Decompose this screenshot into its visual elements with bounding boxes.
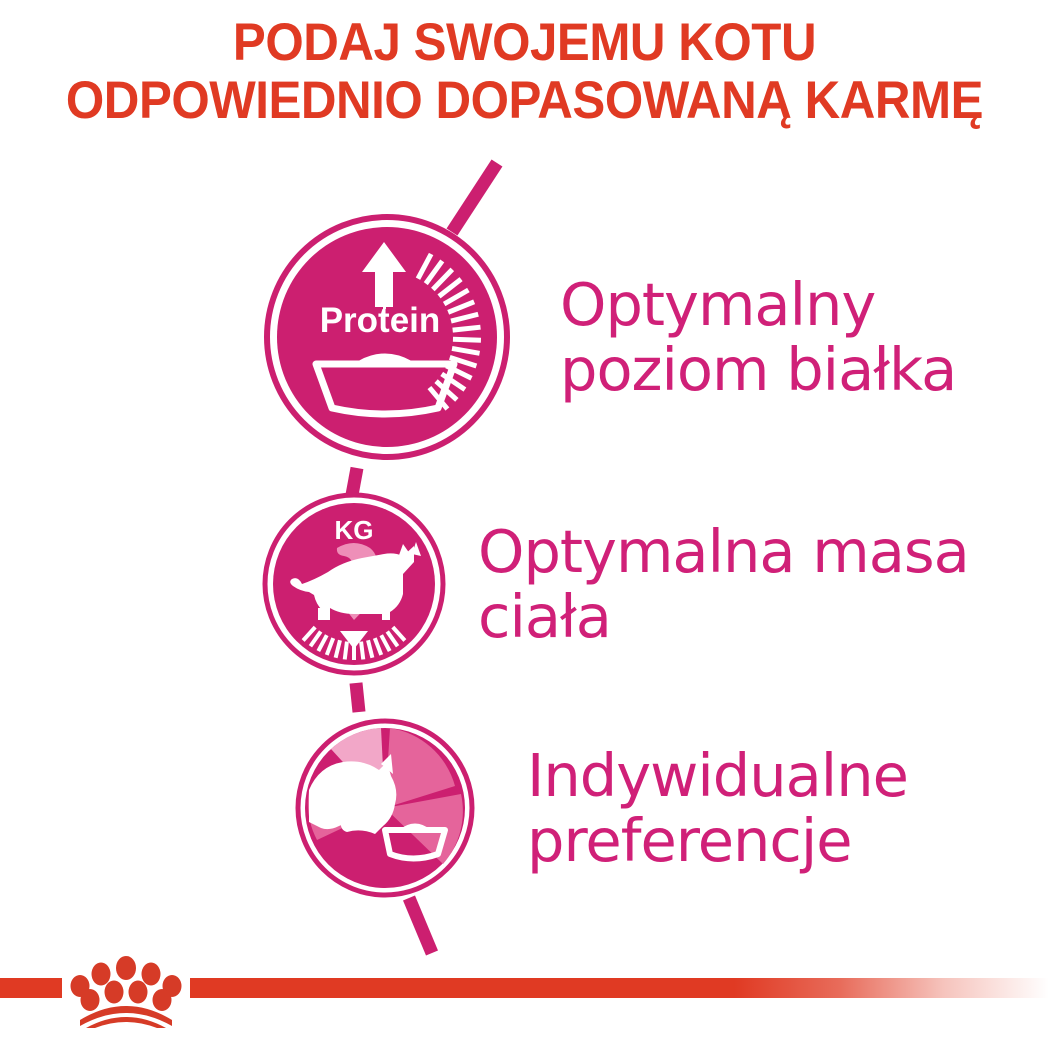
feature-label-protein-line-2: poziom białka: [560, 337, 956, 402]
royal-canin-crown-logo: [60, 946, 192, 1028]
feature-label-protein-line-1: Optymalny: [560, 272, 956, 337]
feature-label-weight-line-1: Optymalna masa: [478, 519, 969, 584]
kg-icon-text: KG: [335, 515, 374, 545]
feature-label-weight: Optymalna masa ciała: [478, 519, 969, 649]
feature-row-weight: KG: [262, 492, 969, 676]
feature-row-preferences: Indywidualne preferencje: [295, 718, 908, 898]
page-title-line-2: ODPOWIEDNIO DOPASOWANĄ KARMĘ: [37, 72, 1013, 130]
cat-eating-bowl-icon: [295, 718, 475, 898]
protein-gauge-icon: Protein: [262, 212, 512, 462]
feature-label-preferences-line-2: preferencje: [527, 808, 908, 873]
feature-label-protein: Optymalny poziom białka: [560, 272, 956, 402]
feature-label-preferences-line-1: Indywidualne: [527, 743, 908, 808]
page-title: PODAJ SWOJEMU KOTU ODPOWIEDNIO DOPASOWAN…: [37, 14, 1013, 130]
cat-weight-kg-icon: KG: [262, 492, 446, 676]
promo-banner: PODAJ SWOJEMU KOTU ODPOWIEDNIO DOPASOWAN…: [0, 0, 1049, 1049]
feature-row-protein: Protein Optymalny poziom białka: [262, 212, 956, 462]
feature-label-preferences: Indywidualne preferencje: [527, 743, 908, 873]
feature-label-weight-line-2: ciała: [478, 584, 969, 649]
protein-icon-text: Protein: [320, 301, 441, 340]
page-title-line-1: PODAJ SWOJEMU KOTU: [233, 13, 816, 72]
